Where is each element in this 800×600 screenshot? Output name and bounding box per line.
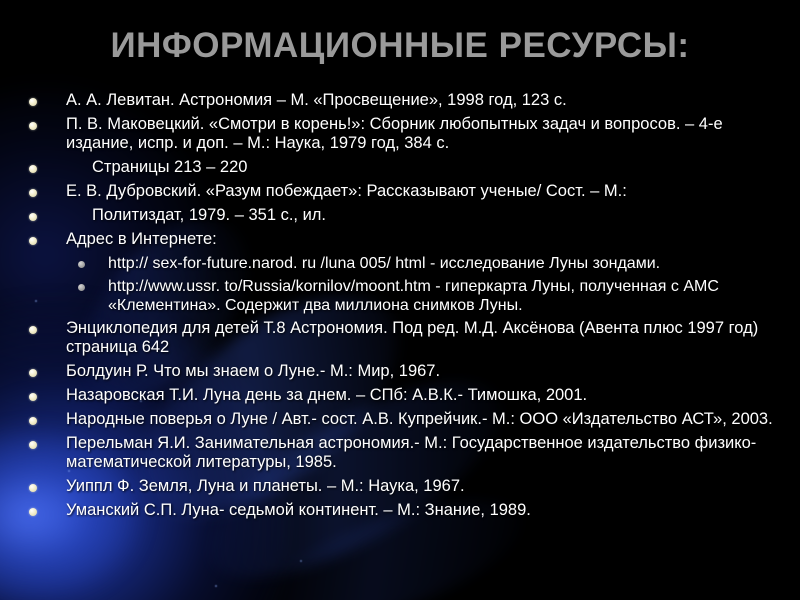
bullet-icon: [29, 369, 37, 377]
reference-item: А. А. Левитан. Астрономия – М. «Просвеще…: [22, 91, 784, 110]
sub-bullet-icon: [78, 284, 85, 291]
reference-list: А. А. Левитан. Астрономия – М. «Просвеще…: [22, 91, 784, 525]
slide-title: ИНФОРМАЦИОННЫЕ РЕСУРСЫ:: [0, 26, 800, 66]
reference-text: А. А. Левитан. Астрономия – М. «Просвеще…: [66, 91, 567, 109]
bullet-icon: [29, 213, 37, 221]
bullet-icon: [29, 122, 37, 130]
reference-item: Перельман Я.И. Занимательная астрономия.…: [22, 434, 784, 472]
bullet-icon: [29, 393, 37, 401]
reference-text: Политиздат, 1979. – 351 с., ил.: [66, 206, 326, 225]
reference-text: Назаровская Т.И. Луна день за днем. – СП…: [66, 386, 587, 404]
bullet-icon: [29, 484, 37, 492]
reference-text: Народные поверья о Луне / Авт.- сост. А.…: [66, 410, 773, 428]
bullet-icon: [29, 237, 37, 245]
bullet-icon: [29, 417, 37, 425]
star-speck: [215, 585, 217, 587]
reference-item: Политиздат, 1979. – 351 с., ил.: [22, 206, 784, 225]
reference-item: Энциклопедия для детей Т.8 Астрономия. П…: [22, 319, 784, 357]
reference-text: http:// sex-for-future.narod. ru /luna 0…: [108, 255, 660, 272]
reference-text: Адрес в Интернете:: [66, 230, 217, 248]
reference-item: Уманский С.П. Луна- седьмой континент. –…: [22, 501, 784, 520]
reference-item: Страницы 213 – 220: [22, 158, 784, 177]
reference-text: П. В. Маковецкий. «Смотри в корень!»: Сб…: [66, 115, 727, 152]
reference-text: Уманский С.П. Луна- седьмой континент. –…: [66, 501, 531, 519]
reference-item: П. В. Маковецкий. «Смотри в корень!»: Сб…: [22, 115, 784, 153]
reference-item: Назаровская Т.И. Луна день за днем. – СП…: [22, 386, 784, 405]
reference-sub-item: http:// sex-for-future.narod. ru /luna 0…: [22, 254, 784, 273]
reference-sub-item: http://www.ussr. to/Russia/kornilov/moon…: [22, 277, 784, 315]
bullet-icon: [29, 326, 37, 334]
reference-item: Болдуин Р. Что мы знаем о Луне.- М.: Мир…: [22, 362, 784, 381]
reference-item: Адрес в Интернете:: [22, 230, 784, 249]
reference-item: Народные поверья о Луне / Авт.- сост. А.…: [22, 410, 784, 429]
sub-bullet-icon: [78, 261, 85, 268]
reference-item: Уиппл Ф. Земля, Луна и планеты. – М.: На…: [22, 477, 784, 496]
reference-item: Е. В. Дубровский. «Разум побеждает»: Рас…: [22, 182, 784, 201]
bullet-icon: [29, 98, 37, 106]
bullet-icon: [29, 165, 37, 173]
bullet-icon: [29, 508, 37, 516]
reference-text: Энциклопедия для детей Т.8 Астрономия. П…: [66, 319, 763, 356]
reference-text: Е. В. Дубровский. «Разум побеждает»: Рас…: [66, 182, 627, 200]
bullet-icon: [29, 189, 37, 197]
reference-text: Уиппл Ф. Земля, Луна и планеты. – М.: На…: [66, 477, 465, 495]
reference-text: Перельман Я.И. Занимательная астрономия.…: [66, 434, 756, 471]
presentation-slide: ИНФОРМАЦИОННЫЕ РЕСУРСЫ: А. А. Левитан. А…: [0, 0, 800, 600]
reference-text: http://www.ussr. to/Russia/kornilov/moon…: [108, 278, 728, 314]
star-speck: [300, 560, 302, 562]
bullet-icon: [29, 441, 37, 449]
reference-text: Страницы 213 – 220: [66, 158, 247, 177]
reference-text: Болдуин Р. Что мы знаем о Луне.- М.: Мир…: [66, 362, 440, 380]
